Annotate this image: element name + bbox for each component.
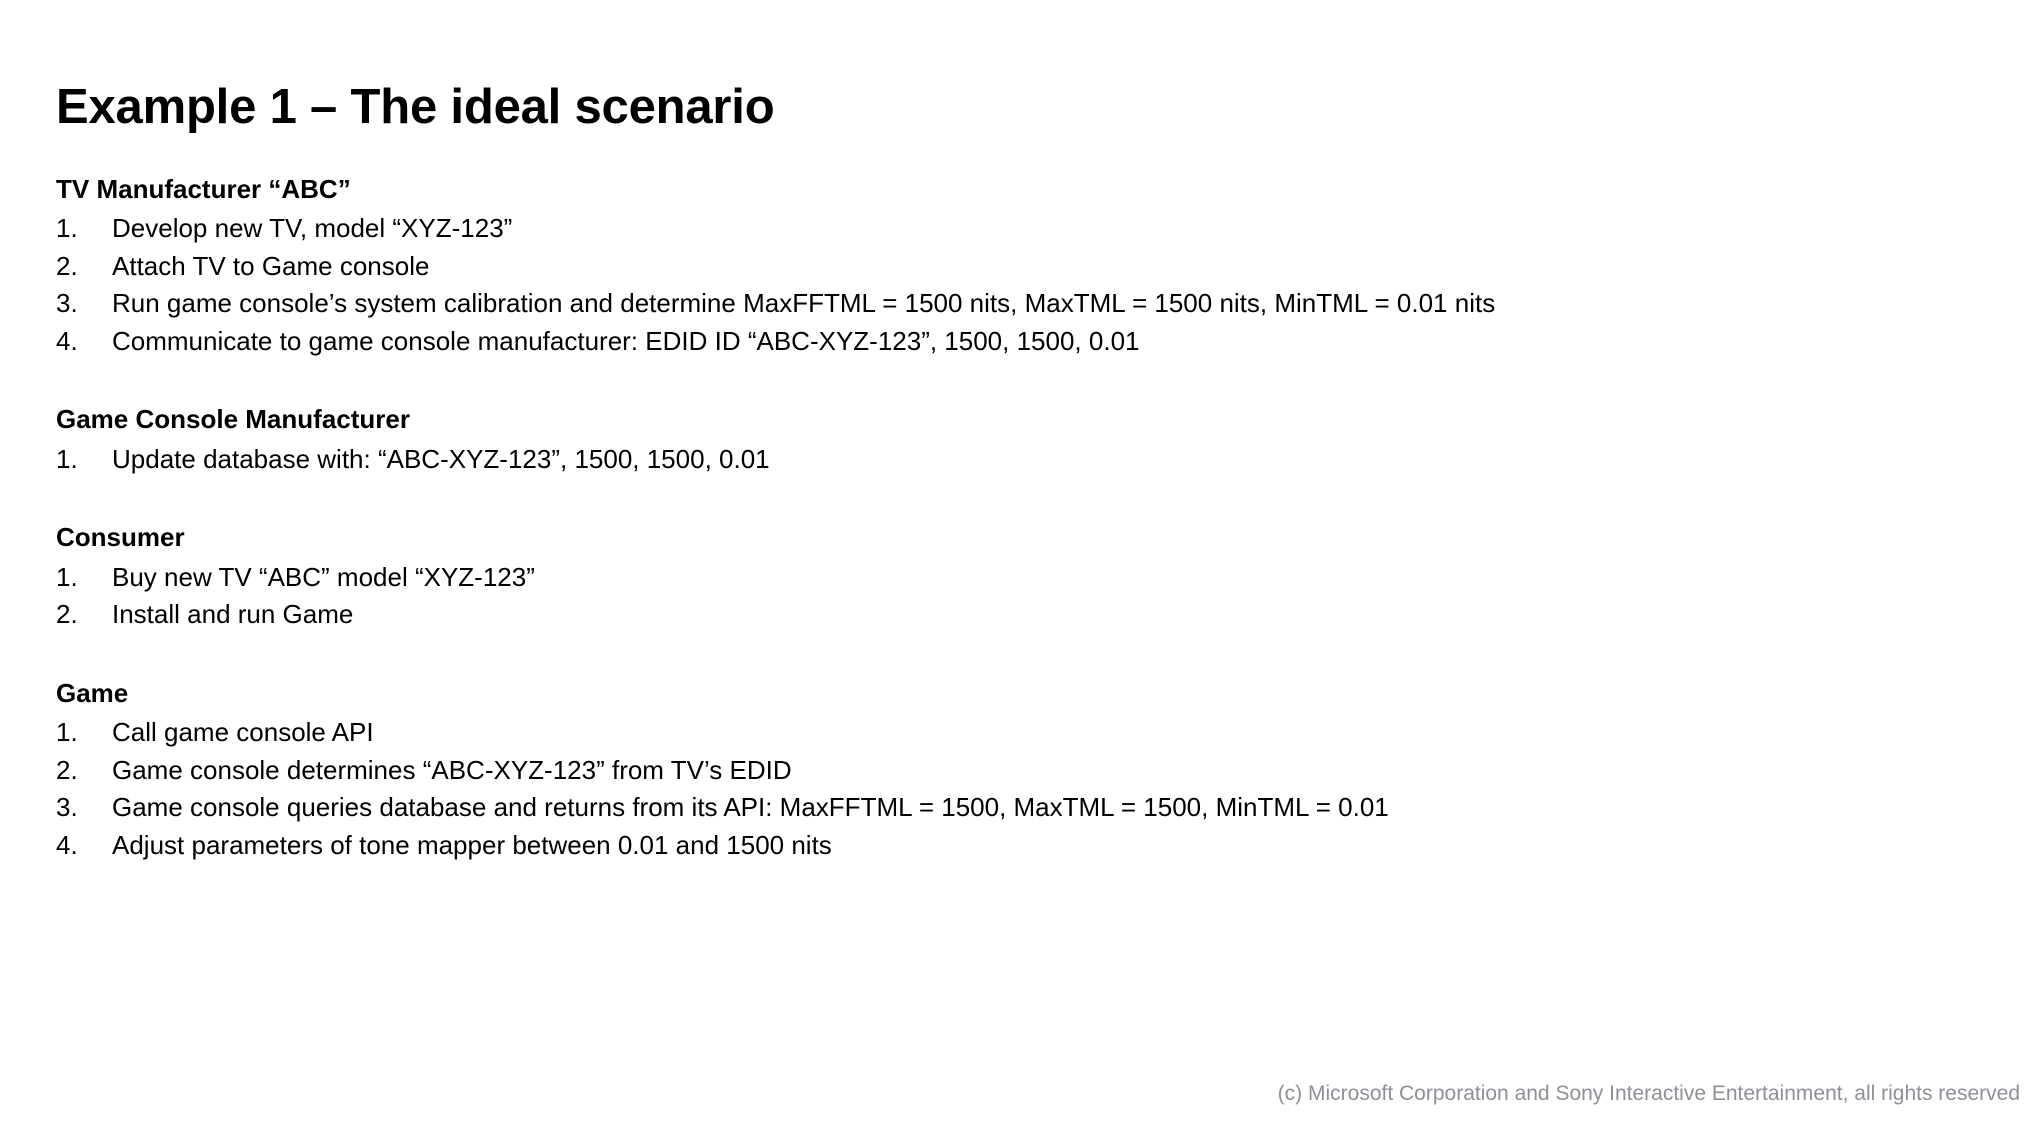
list-item: 4.Adjust parameters of tone mapper betwe… xyxy=(56,829,1956,867)
list-item-label: Run game console’s system calibration an… xyxy=(112,287,1495,321)
list-item: 4.Communicate to game console manufactur… xyxy=(56,325,1956,363)
list-item: 3.Run game console’s system calibration … xyxy=(56,287,1956,325)
list-item-number: 4. xyxy=(56,829,112,863)
list-item: 2.Game console determines “ABC-XYZ-123” … xyxy=(56,754,1956,792)
numbered-list: 1.Call game console API2.Game console de… xyxy=(56,716,1956,866)
list-item: 1.Develop new TV, model “XYZ-123” xyxy=(56,212,1956,250)
list-item-number: 4. xyxy=(56,325,112,359)
numbered-list: 1.Buy new TV “ABC” model “XYZ-123”2.Inst… xyxy=(56,561,1956,636)
list-item-label: Buy new TV “ABC” model “XYZ-123” xyxy=(112,561,535,595)
list-item: 3.Game console queries database and retu… xyxy=(56,791,1956,829)
page-title: Example 1 – The ideal scenario xyxy=(56,79,774,135)
list-item-number: 2. xyxy=(56,598,112,632)
list-item-label: Install and run Game xyxy=(112,598,353,632)
list-item-label: Game console queries database and return… xyxy=(112,791,1389,825)
numbered-list: 1.Develop new TV, model “XYZ-123”2.Attac… xyxy=(56,212,1956,362)
list-item-number: 1. xyxy=(56,561,112,595)
list-item-number: 2. xyxy=(56,754,112,788)
content-section: Game1.Call game console API2.Game consol… xyxy=(56,676,1956,866)
numbered-list: 1.Update database with: “ABC-XYZ-123”, 1… xyxy=(56,443,1956,481)
list-item-number: 1. xyxy=(56,443,112,477)
list-item-label: Adjust parameters of tone mapper between… xyxy=(112,829,832,863)
list-item: 1.Call game console API xyxy=(56,716,1956,754)
content-section: TV Manufacturer “ABC”1.Develop new TV, m… xyxy=(56,172,1956,362)
list-item-number: 3. xyxy=(56,287,112,321)
slide-body: TV Manufacturer “ABC”1.Develop new TV, m… xyxy=(56,172,1956,866)
list-item-label: Call game console API xyxy=(112,716,374,750)
section-heading: Game Console Manufacturer xyxy=(56,402,1956,436)
list-item-number: 1. xyxy=(56,716,112,750)
list-item: 1.Update database with: “ABC-XYZ-123”, 1… xyxy=(56,443,1956,481)
presentation-slide: Example 1 – The ideal scenario TV Manufa… xyxy=(0,0,2030,1121)
list-item: 2.Install and run Game xyxy=(56,598,1956,636)
list-item-label: Game console determines “ABC-XYZ-123” fr… xyxy=(112,754,792,788)
list-item-label: Develop new TV, model “XYZ-123” xyxy=(112,212,512,246)
list-item-number: 2. xyxy=(56,250,112,284)
section-heading: TV Manufacturer “ABC” xyxy=(56,172,1956,206)
list-item-label: Attach TV to Game console xyxy=(112,250,429,284)
list-item-number: 3. xyxy=(56,791,112,825)
copyright-footer: (c) Microsoft Corporation and Sony Inter… xyxy=(1278,1080,2020,1107)
section-heading: Game xyxy=(56,676,1956,710)
list-item-label: Communicate to game console manufacturer… xyxy=(112,325,1139,359)
list-item-number: 1. xyxy=(56,212,112,246)
section-heading: Consumer xyxy=(56,520,1956,554)
list-item: 2.Attach TV to Game console xyxy=(56,250,1956,288)
list-item: 1.Buy new TV “ABC” model “XYZ-123” xyxy=(56,561,1956,599)
content-section: Game Console Manufacturer1.Update databa… xyxy=(56,402,1956,480)
content-section: Consumer1.Buy new TV “ABC” model “XYZ-12… xyxy=(56,520,1956,635)
list-item-label: Update database with: “ABC-XYZ-123”, 150… xyxy=(112,443,770,477)
